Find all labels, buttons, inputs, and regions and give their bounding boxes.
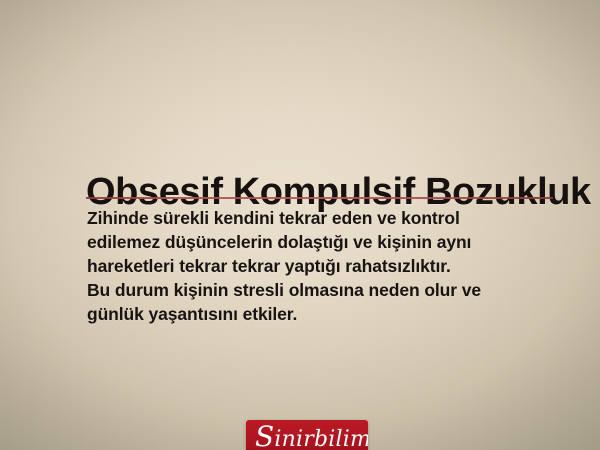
description-line: günlük yaşantısını etkiler.	[87, 302, 537, 326]
logo-wordmark: Sinirbilim	[255, 423, 368, 450]
description-line: edilemez düşüncelerin dolaştığı ve kişin…	[87, 230, 537, 254]
description-line: Zihinde sürekli kendini tekrar eden ve k…	[87, 206, 537, 230]
title-divider	[86, 197, 553, 199]
sinirbilim-logo-badge: Sinirbilim	[246, 420, 368, 450]
description-line: Bu durum kişinin stresli olmasına neden …	[87, 278, 537, 302]
description-line: hareketleri tekrar tekrar yaptığı rahats…	[87, 254, 537, 278]
logo-wordmark-rest: inirbilim	[274, 427, 368, 450]
museum-exhibit-panel: Obsesif Kompulsif Bozukluk Zihinde sürek…	[0, 0, 600, 450]
description-text-block: Zihinde sürekli kendini tekrar eden ve k…	[87, 206, 537, 326]
logo-initial: S	[255, 420, 274, 450]
